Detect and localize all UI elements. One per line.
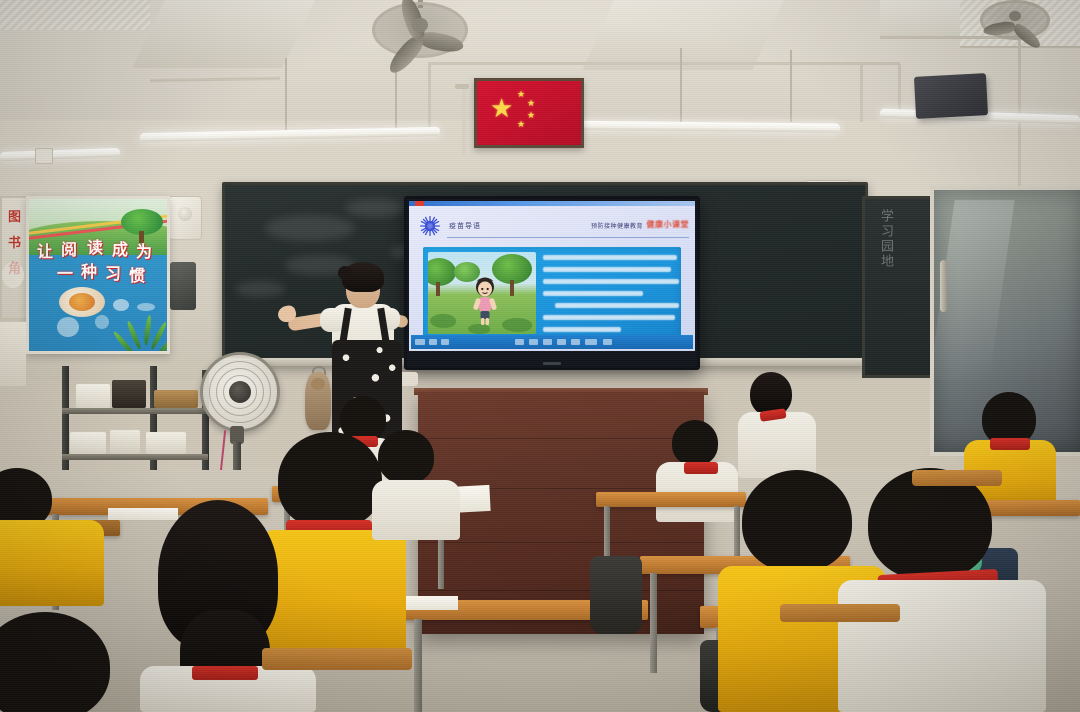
fan-hub [412, 18, 427, 33]
flag-small-star: ★ [527, 111, 535, 120]
cartoon-child [472, 276, 498, 326]
tv-logo [543, 362, 561, 365]
student [0, 612, 130, 712]
chalk-note: 学习园地 [879, 209, 894, 339]
chair-back [262, 648, 412, 670]
slide-top-bar [409, 201, 695, 206]
school-bag [590, 556, 642, 634]
fan-hub [229, 381, 251, 403]
student [372, 430, 464, 540]
wall-poster [0, 322, 26, 386]
slide-body-panel [423, 247, 681, 339]
slide-illustration [428, 252, 536, 334]
student [0, 468, 120, 608]
fan-hub [1009, 11, 1020, 21]
wall-mounted-speaker [914, 73, 988, 119]
bulletin-board: 让 阅 读 成 为 一 种 习 惯 [26, 196, 170, 354]
slide-title: 疫苗导语 [449, 221, 481, 231]
wall-conduit [428, 62, 431, 134]
flag-small-star: ★ [517, 90, 525, 99]
student [130, 500, 320, 712]
light-wire [790, 50, 792, 122]
cabinet-handle[interactable] [940, 260, 947, 312]
fan-head [200, 352, 280, 432]
classroom-photo: ★ ★ ★ ★ ★ 学习园地 [0, 0, 1080, 712]
chair-back [780, 604, 900, 622]
flag-large-star: ★ [490, 95, 513, 121]
china-flag: ★ ★ ★ ★ ★ [474, 78, 584, 148]
flag-small-star: ★ [517, 120, 525, 129]
flag-pole [462, 85, 466, 155]
ceiling-fan [980, 0, 1050, 40]
flag-small-star: ★ [527, 99, 535, 108]
ceiling-fan [372, 2, 468, 58]
wall-speaker [168, 196, 202, 240]
flag-field: ★ ★ ★ ★ ★ [477, 81, 581, 145]
light-wire [285, 58, 287, 130]
student [736, 372, 822, 482]
board-plant [129, 295, 165, 351]
flag-hook [455, 84, 469, 89]
windows-taskbar[interactable] [411, 335, 693, 349]
virus-icon [419, 215, 441, 237]
slide-subtitle: 预防接种健康教育 [591, 221, 643, 230]
desk-leg [650, 573, 657, 673]
student [838, 468, 1048, 712]
wall-conduit [860, 64, 863, 122]
presentation-slide[interactable]: 疫苗导语 预防接种健康教育 健康小课堂 [409, 201, 695, 351]
teacher-hair-bun [338, 266, 352, 280]
board-tree-trunk [139, 231, 144, 243]
slide-accent-mark [415, 201, 424, 206]
light-wire [680, 48, 682, 122]
slide-divider [447, 237, 689, 238]
wall-conduit [430, 62, 900, 65]
smart-screen[interactable]: 疫苗导语 预防接种健康教育 健康小课堂 [404, 196, 700, 370]
wall-decal [2, 262, 24, 288]
wall-device [170, 262, 196, 310]
ceiling-panel [0, 0, 150, 30]
power-outlet [35, 148, 53, 164]
chair-back [912, 470, 1002, 486]
slide-highlight: 健康小课堂 [647, 219, 690, 230]
ceiling-beam [583, 0, 788, 70]
